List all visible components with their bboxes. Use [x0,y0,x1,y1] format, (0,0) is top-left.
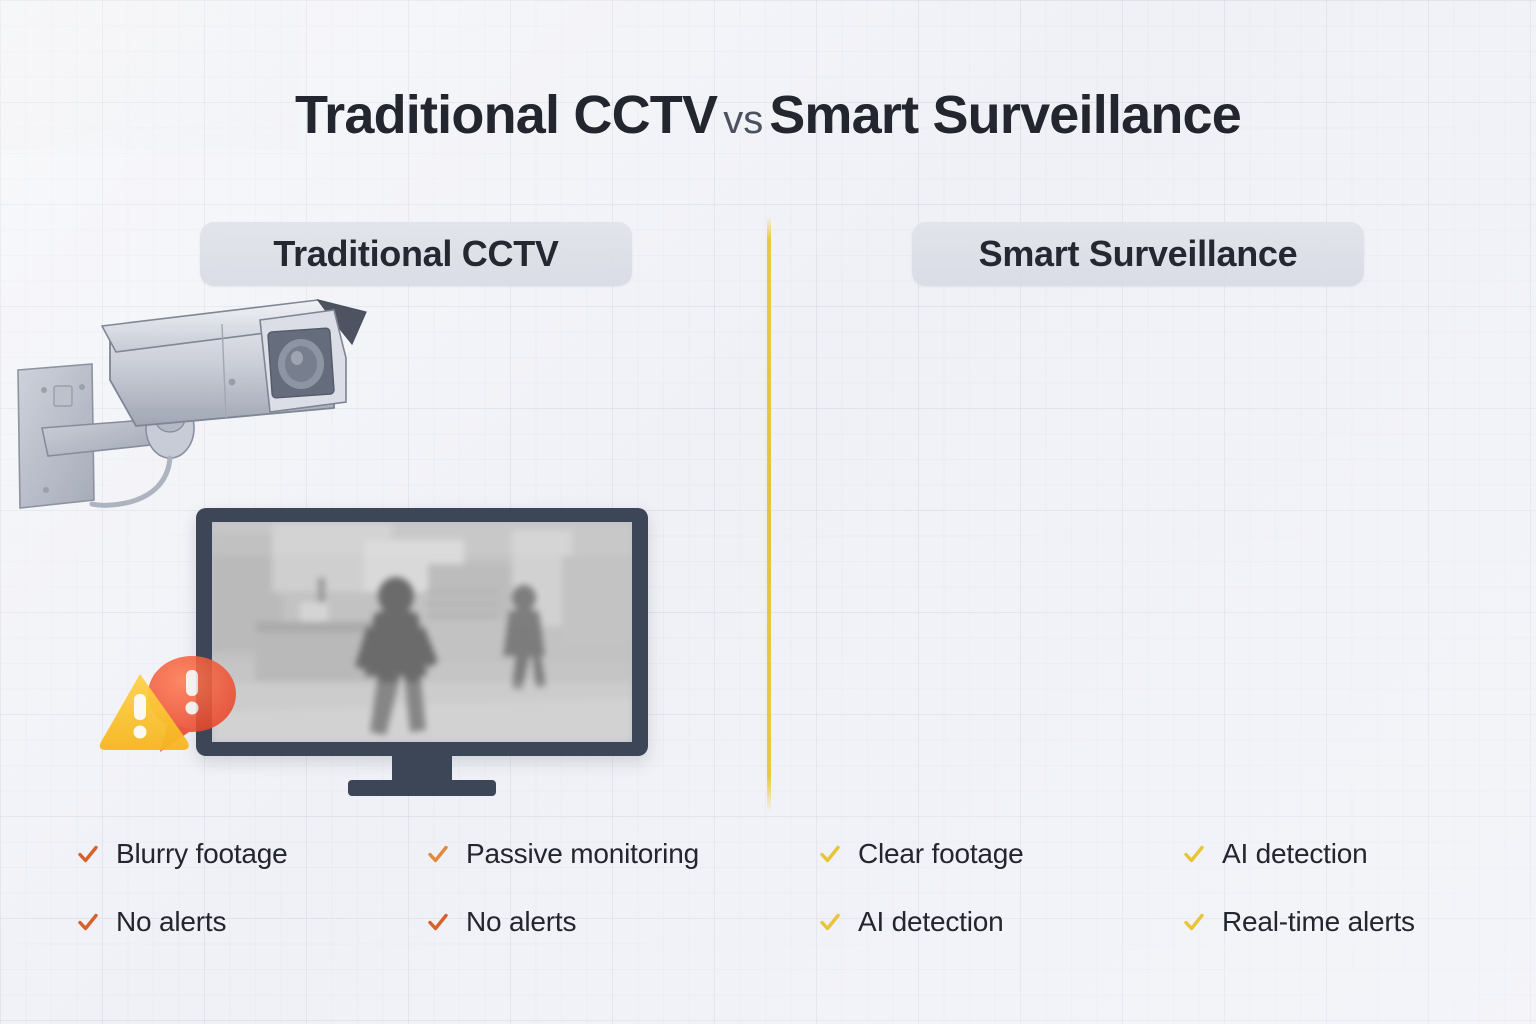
monitor-bezel [196,508,648,756]
check-icon [1182,910,1206,934]
feature-label: Blurry footage [116,838,288,870]
smart-surveillance-header-label: Smart Surveillance [979,233,1298,275]
monitor-stand-base [348,780,496,796]
page-title-bar: Traditional CCTVvsSmart Surveillance [0,84,1536,146]
crt-monitor-icon [196,508,648,794]
check-icon [76,842,100,866]
feature-item: Blurry footage [0,820,380,888]
page-title-part-2: Smart Surveillance [769,85,1241,145]
check-icon [818,842,842,866]
page-title: Traditional CCTVvsSmart Surveillance [0,84,1536,146]
blurry-footage-scene [212,522,632,742]
feature-item: AI detection [1140,820,1536,888]
feature-label: Passive monitoring [466,838,699,870]
traditional-cctv-header-label: Traditional CCTV [273,233,558,275]
smart-surveillance-header: Smart Surveillance [912,222,1364,286]
check-icon [426,910,450,934]
check-icon [76,910,100,934]
feature-comparison-grid: Blurry footage Passive monitoring Clear … [0,820,1536,956]
monitor-screen [212,522,632,742]
feature-item: Real-time alerts [1140,888,1536,956]
feature-item: Passive monitoring [380,820,768,888]
page-title-part-1: Traditional CCTV [295,85,717,145]
infographic-canvas: Traditional CCTVvsSmart Surveillance [0,0,1536,1024]
check-icon [818,910,842,934]
check-icon [426,842,450,866]
monitor-stand-neck [392,754,452,782]
traditional-cctv-header: Traditional CCTV [200,222,632,286]
panel-divider [767,216,771,812]
feature-label: Real-time alerts [1222,906,1415,938]
feature-item: Clear footage [768,820,1140,888]
feature-label: No alerts [116,906,226,938]
page-title-vs: vs [717,98,769,142]
feature-item: No alerts [380,888,768,956]
feature-item: No alerts [0,888,380,956]
check-icon [1182,842,1206,866]
feature-label: Clear footage [858,838,1024,870]
feature-label: AI detection [858,906,1003,938]
warning-icons-group [96,650,246,770]
old-cctv-camera-icon [0,268,394,528]
feature-label: AI detection [1222,838,1367,870]
feature-label: No alerts [466,906,576,938]
feature-item: AI detection [768,888,1140,956]
